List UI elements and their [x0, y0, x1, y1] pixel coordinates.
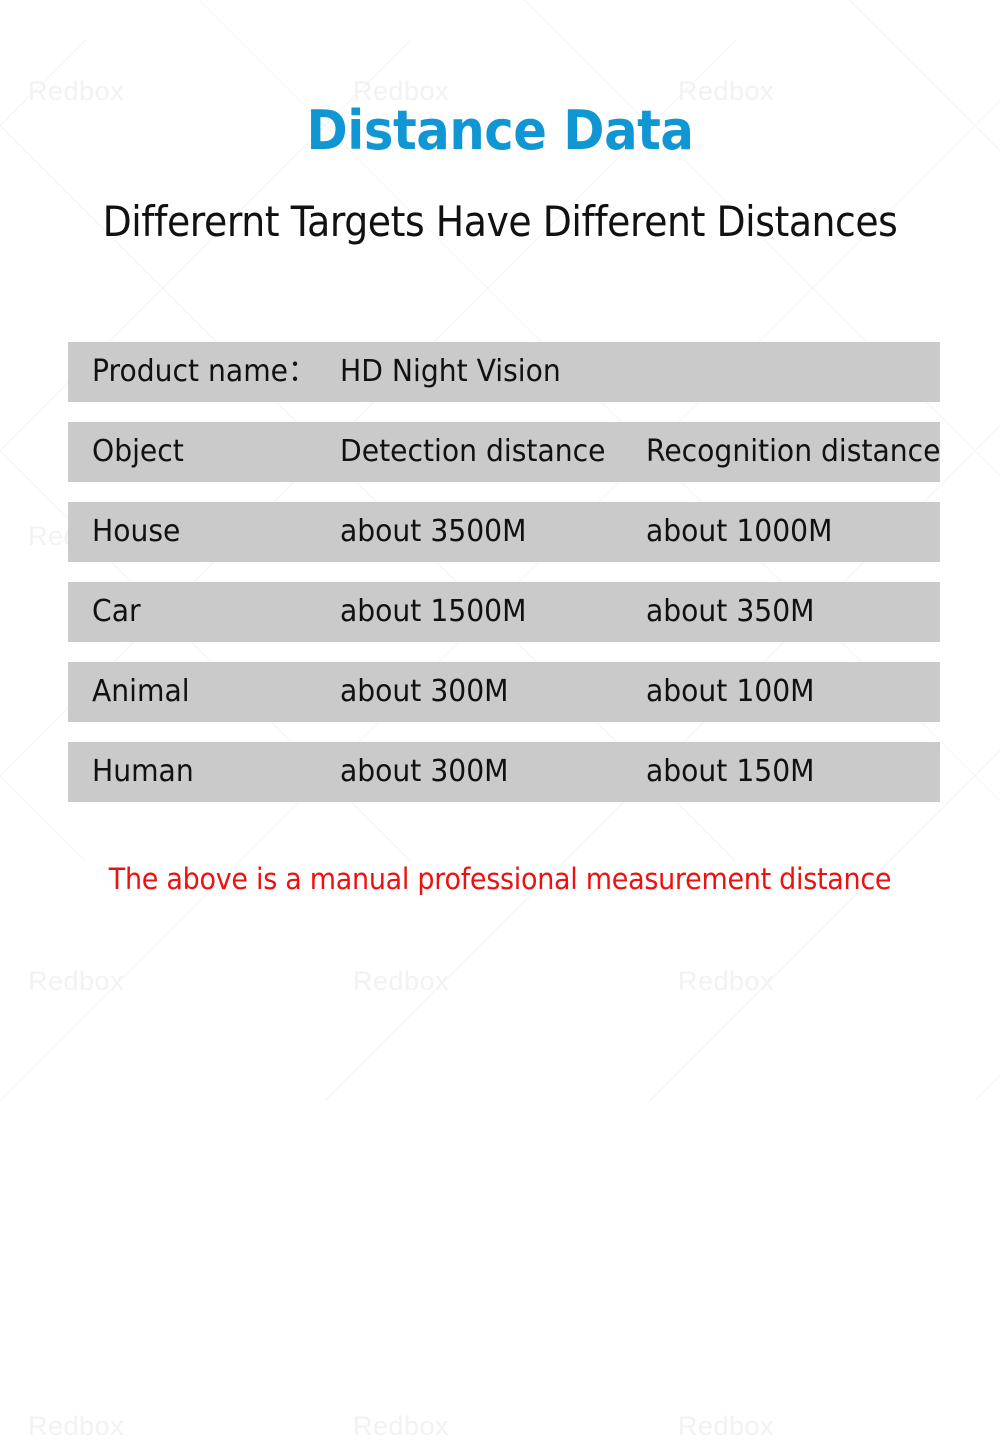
column-header-object: Object	[92, 435, 184, 469]
column-header-recognition-distance: Recognition distance	[646, 435, 941, 469]
table-row: House about 3500M about 1000M	[68, 502, 940, 562]
column-header-detection-distance: Detection distance	[340, 435, 605, 469]
table-row: Human about 300M about 150M	[68, 742, 940, 802]
cell-object: Animal	[92, 675, 190, 709]
cell-recognition: about 1000M	[646, 515, 832, 549]
cell-recognition: about 350M	[646, 595, 814, 629]
measurement-disclaimer: The above is a manual professional measu…	[35, 862, 965, 896]
table-row: Animal about 300M about 100M	[68, 662, 940, 722]
cell-detection: about 3500M	[340, 515, 526, 549]
cell-detection: about 1500M	[340, 595, 526, 629]
distance-spec-table: Product name： HD Night Vision Object Det…	[68, 342, 940, 802]
cell-object: House	[92, 515, 180, 549]
cell-recognition: about 150M	[646, 755, 814, 789]
page-title: Distance Data	[40, 102, 960, 160]
cell-detection: about 300M	[340, 675, 508, 709]
page-content: Distance Data Differernt Targets Have Di…	[0, 0, 1000, 1000]
cell-recognition: about 100M	[646, 675, 814, 709]
watermark-text: Redbox	[353, 1411, 449, 1442]
cell-object: Car	[92, 595, 141, 629]
product-name-value: HD Night Vision	[340, 355, 561, 389]
watermark-text: Redbox	[678, 1411, 774, 1442]
table-row: Car about 1500M about 350M	[68, 582, 940, 642]
product-name-label: Product name：	[92, 355, 316, 389]
watermark-text: Redbox	[28, 1411, 124, 1442]
table-header-row: Object Detection distance Recognition di…	[68, 422, 940, 482]
page-subtitle: Differernt Targets Have Different Distan…	[50, 197, 950, 247]
cell-detection: about 300M	[340, 755, 508, 789]
cell-object: Human	[92, 755, 194, 789]
table-row-product-name: Product name： HD Night Vision	[68, 342, 940, 402]
